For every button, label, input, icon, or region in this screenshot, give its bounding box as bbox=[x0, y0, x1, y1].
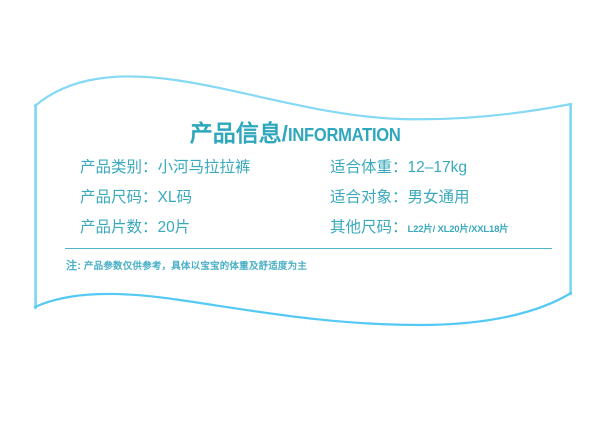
page-title: 产品信息/INFORMATION bbox=[0, 114, 600, 148]
spec-value-product-count: 20片 bbox=[158, 219, 191, 236]
page-title-cn: 产品信息 bbox=[190, 120, 282, 146]
spec-value-product-category: 小河马拉拉裤 bbox=[158, 159, 251, 176]
spec-row: 适合体重：12–17kg bbox=[330, 155, 467, 177]
footnote-tag: 注: bbox=[66, 260, 81, 272]
spec-label-product-count: 产品片数： bbox=[80, 219, 158, 236]
spec-row: 适合对象：男女通用 bbox=[330, 185, 470, 207]
product-info-card: 产品信息/INFORMATION 产品类别：小河马拉拉裤 产品尺码：XL码 产品… bbox=[0, 0, 600, 424]
spec-value-suitable-gender: 男女通用 bbox=[408, 189, 470, 206]
spec-label-suitable-weight: 适合体重： bbox=[330, 159, 408, 176]
spec-row: 产品类别：小河马拉拉裤 bbox=[80, 155, 251, 177]
spec-label-other-sizes: 其他尺码： bbox=[330, 219, 408, 236]
spec-value-product-size: XL码 bbox=[158, 189, 192, 206]
spec-row: 产品片数：20片 bbox=[80, 215, 190, 237]
footnote-text: 产品参数仅供参考，具体以宝宝的体重及舒适度为主 bbox=[81, 261, 307, 272]
section-divider bbox=[65, 248, 552, 249]
spec-label-suitable-gender: 适合对象： bbox=[330, 189, 408, 206]
spec-row: 其他尺码：L22片/ XL20片/XXL18片 bbox=[330, 215, 508, 237]
page-title-en: INFORMATION bbox=[288, 125, 401, 146]
page-title-separator: / bbox=[282, 121, 288, 146]
spec-label-product-size: 产品尺码： bbox=[80, 189, 158, 206]
spec-label-product-category: 产品类别： bbox=[80, 159, 158, 176]
spec-row: 产品尺码：XL码 bbox=[80, 185, 192, 207]
spec-value-other-sizes: L22片/ XL20片/XXL18片 bbox=[408, 224, 509, 235]
footnote: 注: 产品参数仅供参考，具体以宝宝的体重及舒适度为主 bbox=[66, 257, 307, 273]
spec-value-suitable-weight: 12–17kg bbox=[408, 159, 467, 176]
